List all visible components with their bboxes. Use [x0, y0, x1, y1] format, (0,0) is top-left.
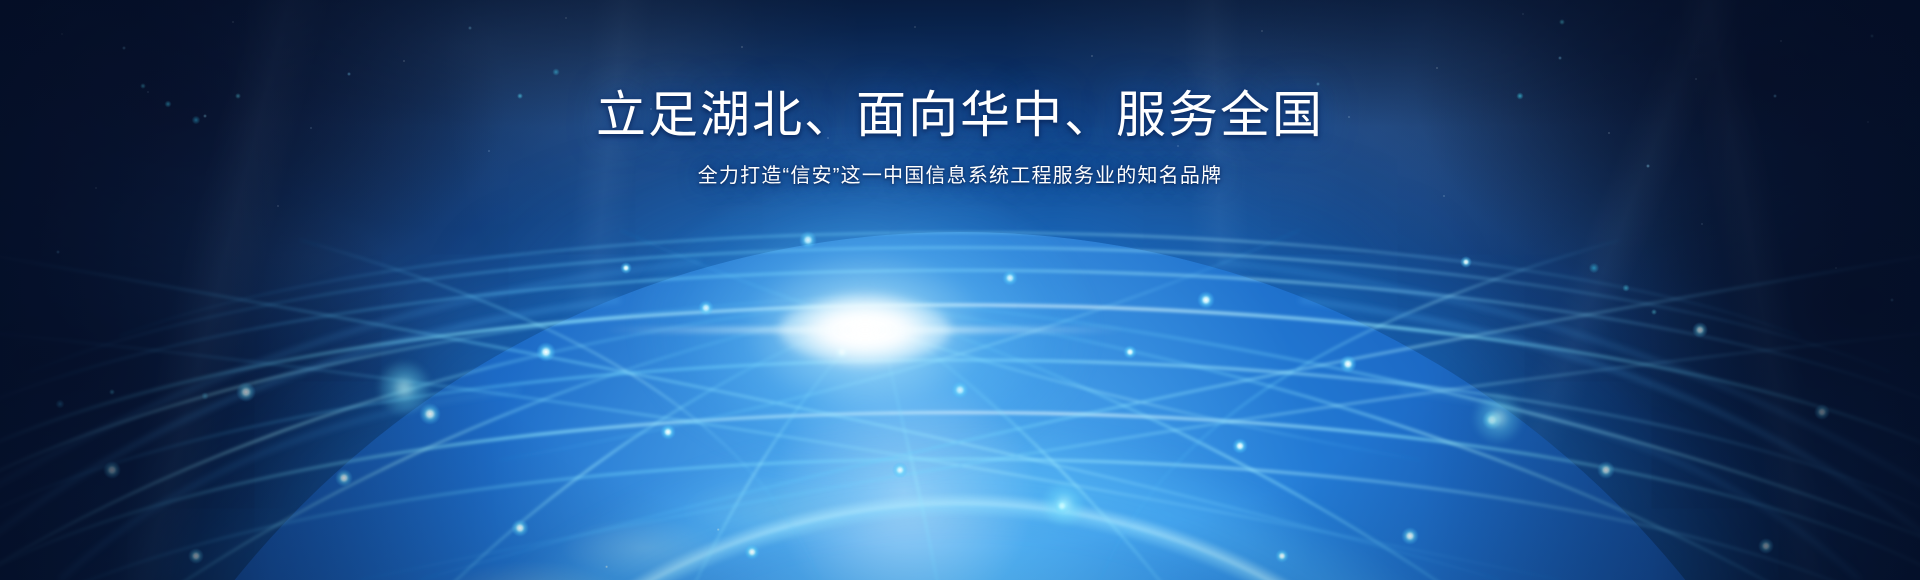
hero-banner: 立足湖北、面向华中、服务全国 全力打造“信安”这一中国信息系统工程服务业的知名品… — [0, 0, 1920, 580]
banner-copy: 立足湖北、面向华中、服务全国 全力打造“信安”这一中国信息系统工程服务业的知名品… — [0, 86, 1920, 190]
banner-subheadline: 全力打造“信安”这一中国信息系统工程服务业的知名品牌 — [0, 162, 1920, 190]
banner-headline: 立足湖北、面向华中、服务全国 — [0, 86, 1920, 144]
